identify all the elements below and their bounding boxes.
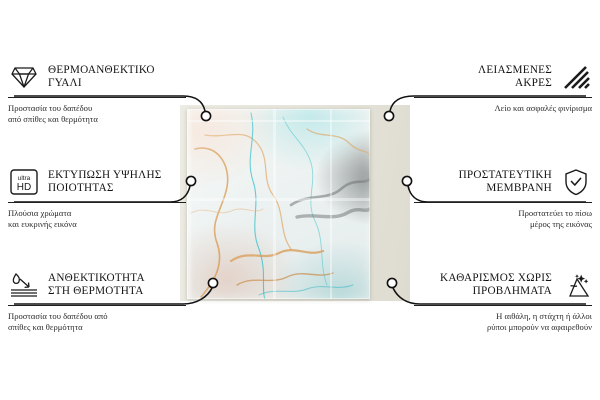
flame-deflect-icon <box>8 269 40 301</box>
feature-description: Πλούσια χρώματα και ευκρινής εικόνα <box>8 208 186 230</box>
ultra-hd-icon: ultra HD <box>8 166 40 198</box>
diamond-icon <box>8 61 40 93</box>
glass-splashback-panel <box>187 109 370 299</box>
divider <box>414 202 592 203</box>
easy-clean-icon <box>560 269 592 301</box>
feature-title: ΑΝΘΕΚΤΙΚΟΤΗΤΑ ΣΤΗ ΘΕΡΜΟΤΗΤΑ <box>48 272 145 299</box>
feature-description: Η αιθάλη, η στάχτη ή άλλοι ρύποι μπορούν… <box>414 311 592 333</box>
feature-title: ΠΡΟΣΤΑΤΕΥΤΙΚΗ ΜΕΜΒΡΑΝΗ <box>459 169 552 196</box>
divider <box>8 202 186 203</box>
shield-check-icon <box>560 166 592 198</box>
feature-description: Προστασία του δαπέδου από σπίθες και θερ… <box>8 103 186 125</box>
feature-high-quality-print: ultra HD ΕΚΤΥΠΩΣΗ ΥΨΗΛΗΣ ΠΟΙΟΤΗΤΑΣ Πλούσ… <box>8 165 186 230</box>
feature-protective-membrane: ΠΡΟΣΤΑΤΕΥΤΙΚΗ ΜΕΜΒΡΑΝΗ Προστατεύει το πί… <box>414 165 592 230</box>
product-image <box>180 105 410 301</box>
feature-title: ΕΚΤΥΠΩΣΗ ΥΨΗΛΗΣ ΠΟΙΟΤΗΤΑΣ <box>48 169 162 196</box>
ink-vein-overlay <box>187 109 370 299</box>
svg-text:ultra: ultra <box>18 175 31 182</box>
feature-heat-durability: ΑΝΘΕΚΤΙΚΟΤΗΤΑ ΣΤΗ ΘΕΡΜΟΤΗΤΑ Προστασία το… <box>8 268 186 333</box>
feature-description: Προστασία του δαπέδου από σπίθες και θερ… <box>8 311 186 333</box>
polished-edges-icon <box>560 61 592 93</box>
feature-description: Προστατεύει το πίσω μέρος της εικόνας <box>414 208 592 230</box>
feature-heat-resistant-glass: ΘΕΡΜΟΑΝΘΕΚΤΙΚΟ ΓΥΑΛΙ Προστασία του δαπέδ… <box>8 60 186 125</box>
feature-title: ΘΕΡΜΟΑΝΘΕΚΤΙΚΟ ΓΥΑΛΙ <box>48 64 155 91</box>
feature-polished-edges: ΛΕΙΑΣΜΕΝΕΣ ΑΚΡΕΣ Λείο και ασφαλές φινίρι… <box>414 60 592 114</box>
infographic-canvas: ΘΕΡΜΟΑΝΘΕΚΤΙΚΟ ΓΥΑΛΙ Προστασία του δαπέδ… <box>0 0 600 400</box>
feature-title: ΚΑΘΑΡΙΣΜΟΣ ΧΩΡΙΣ ΠΡΟΒΛΗΜΑΤΑ <box>440 272 552 299</box>
feature-easy-cleaning: ΚΑΘΑΡΙΣΜΟΣ ΧΩΡΙΣ ΠΡΟΒΛΗΜΑΤΑ Η αιθάλη, η … <box>414 268 592 333</box>
feature-title: ΛΕΙΑΣΜΕΝΕΣ ΑΚΡΕΣ <box>478 64 552 91</box>
divider <box>8 305 186 306</box>
divider <box>8 97 186 98</box>
divider <box>414 97 592 98</box>
divider <box>414 305 592 306</box>
feature-description: Λείο και ασφαλές φινίρισμα <box>414 103 592 114</box>
svg-text:HD: HD <box>17 182 31 193</box>
